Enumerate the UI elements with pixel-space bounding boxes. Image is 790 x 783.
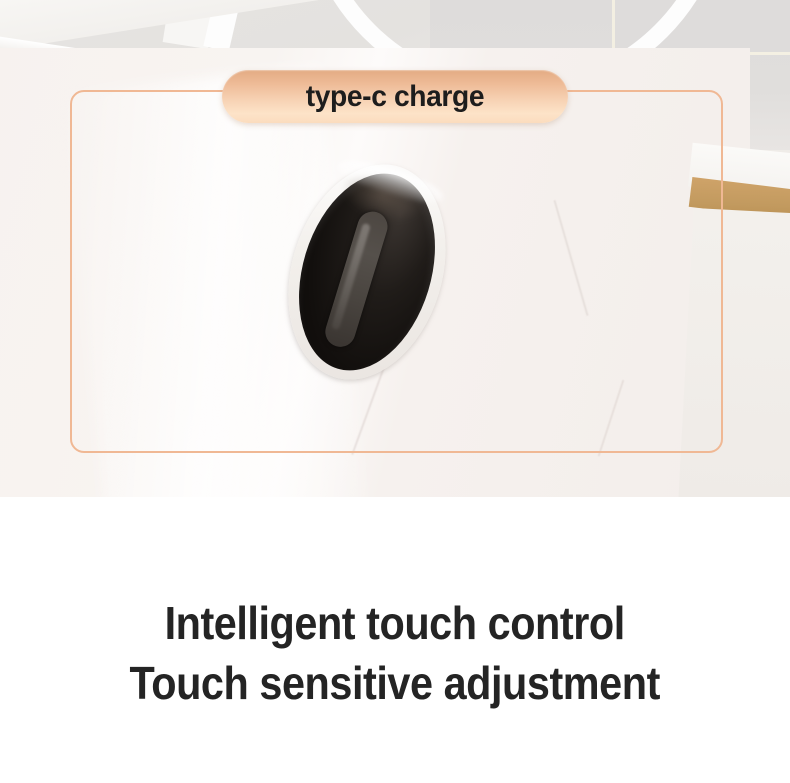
caption-line-1: Intelligent touch control (165, 600, 625, 646)
type-c-charge-badge: type-c charge (222, 70, 568, 123)
caption-line-2: Touch sensitive adjustment (130, 660, 660, 706)
panel-texture-b (553, 200, 588, 316)
product-detail-page: type-c charge Intelligent touch control … (0, 0, 790, 783)
panel-texture-c (598, 380, 624, 457)
cabinet-right-face (679, 208, 790, 497)
badge-label: type-c charge (306, 80, 484, 114)
caption-block: Intelligent touch control Touch sensitiv… (0, 497, 790, 783)
hero-photo: type-c charge (0, 0, 790, 497)
